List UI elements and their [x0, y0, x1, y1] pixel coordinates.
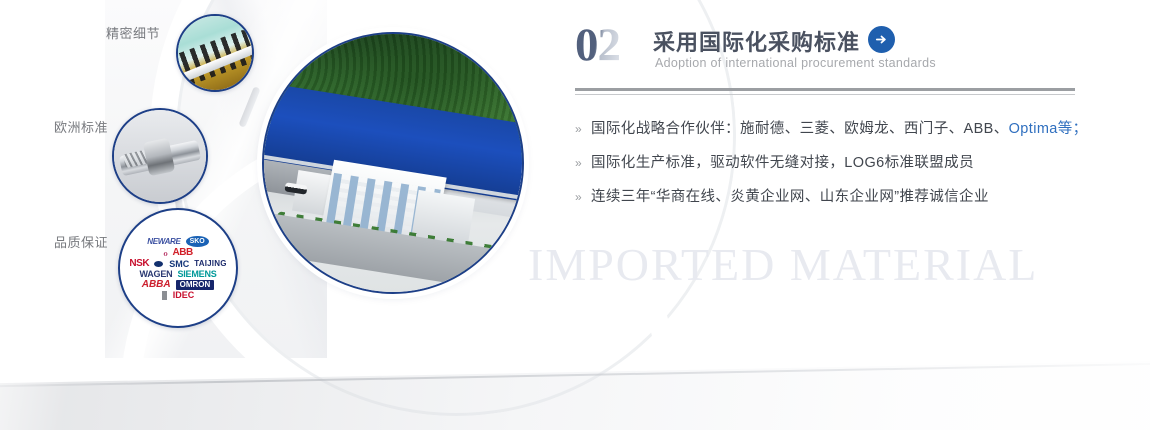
bullet-text: 国际化战略合作伙伴：施耐德、三菱、欧姆龙、西门子、ABB、Optima等； — [591, 118, 1088, 140]
chevron-double-right-icon: » — [575, 152, 591, 174]
brand-logo-omron: OMRON — [176, 280, 215, 290]
gear-macro-photo — [178, 16, 252, 90]
bullet-text-main: 国际化战略合作伙伴：施耐德、三菱、欧姆龙、西门子、ABB、 — [591, 121, 1009, 137]
bubble-label-quality: 品质保证 — [54, 232, 108, 251]
brand-logo-idec: IDEC — [173, 291, 195, 300]
brand-logo-taijing: TAIJING — [194, 260, 226, 268]
bullet-text: 连续三年“华商在线、炎黄企业网、山东企业网”推荐诚信企业 — [591, 186, 989, 208]
list-item: » 国际化生产标准，驱动软件无缝对接，LOG6标准联盟成员 — [575, 152, 1085, 174]
brand-row: ℴ ABB — [163, 248, 192, 258]
brand-row: NSK SMC TAIJING — [129, 259, 226, 269]
brand-logo-neware: NEWARE — [147, 238, 180, 246]
bubble-quality-assurance[interactable]: NEWARE SKO ℴ ABB NSK SMC TAIJING WAGEN S… — [118, 208, 238, 328]
factory-aerial-photo[interactable] — [262, 32, 524, 294]
section-title-cn: 采用国际化采购标准 — [653, 25, 860, 57]
watermark-text: IMPORTED MATERIAL — [528, 238, 1038, 291]
header-divider — [575, 88, 1075, 95]
list-item: » 连续三年“华商在线、炎黄企业网、山东企业网”推荐诚信企业 — [575, 186, 1085, 208]
bullet-list: » 国际化战略合作伙伴：施耐德、三菱、欧姆龙、西门子、ABB、Optima等； … — [575, 118, 1085, 220]
divider-thin-line — [575, 94, 1075, 95]
bullet-text-main: 连续三年“华商在线、炎黄企业网、山东企业网”推荐诚信企业 — [591, 189, 989, 205]
idec-mark-icon — [162, 291, 167, 300]
bottom-sweep-decoration — [0, 360, 1150, 430]
ball-screw-photo — [114, 110, 206, 202]
brand-logos-collage: NEWARE SKO ℴ ABB NSK SMC TAIJING WAGEN S… — [120, 210, 236, 326]
bubble-european-standard[interactable] — [112, 108, 208, 204]
smc-mark-icon — [154, 261, 163, 267]
brand-logo-siemens: SIEMENS — [177, 270, 216, 279]
bubble-label-precision: 精密细节 — [106, 23, 160, 42]
chevron-double-right-icon: » — [575, 118, 591, 140]
bullet-text-main: 国际化生产标准，驱动软件无缝对接，LOG6标准联盟成员 — [591, 155, 974, 171]
brand-logo-smc: SMC — [169, 260, 189, 269]
brand-row: IDEC — [162, 291, 195, 300]
brand-logo-nsk: NSK — [129, 259, 149, 269]
promo-banner: 精密细节 欧洲标准 品质保证 NEWARE SKO ℴ ABB — [0, 0, 1150, 430]
bottom-sweep-line — [0, 362, 1150, 389]
brand-row: ABBA OMRON — [142, 280, 215, 290]
section-header: 02 采用国际化采购标准 Adoption of international p… — [575, 22, 1095, 84]
brand-logo-wagen: WAGEN — [139, 270, 172, 279]
bullet-text: 国际化生产标准，驱动软件无缝对接，LOG6标准联盟成员 — [591, 152, 974, 174]
divider-thick-line — [575, 88, 1075, 91]
brand-row: NEWARE SKO — [147, 236, 209, 247]
brand-logo-abba: ABBA — [142, 280, 171, 290]
brand-row: WAGEN SIEMENS — [139, 270, 216, 279]
bubble-precision-detail[interactable] — [176, 14, 254, 92]
section-number: 02 — [575, 22, 620, 69]
brand-logo-panasonic: ℴ — [163, 249, 167, 258]
factory-scene — [264, 34, 522, 292]
section-title-en: Adoption of international procurement st… — [655, 56, 936, 70]
section-content: 02 采用国际化采购标准 Adoption of international p… — [575, 22, 1095, 84]
screw-nut-shape — [143, 138, 176, 177]
bubble-label-european-standard: 欧洲标准 — [54, 117, 108, 136]
brand-logo-sko: SKO — [186, 236, 209, 247]
list-item: » 国际化战略合作伙伴：施耐德、三菱、欧姆龙、西门子、ABB、Optima等； — [575, 118, 1085, 140]
arrow-right-circle-icon[interactable] — [868, 26, 895, 53]
bullet-text-highlight: Optima等； — [1009, 121, 1088, 137]
brand-logo-abb: ABB — [173, 248, 193, 258]
chevron-double-right-icon: » — [575, 186, 591, 208]
